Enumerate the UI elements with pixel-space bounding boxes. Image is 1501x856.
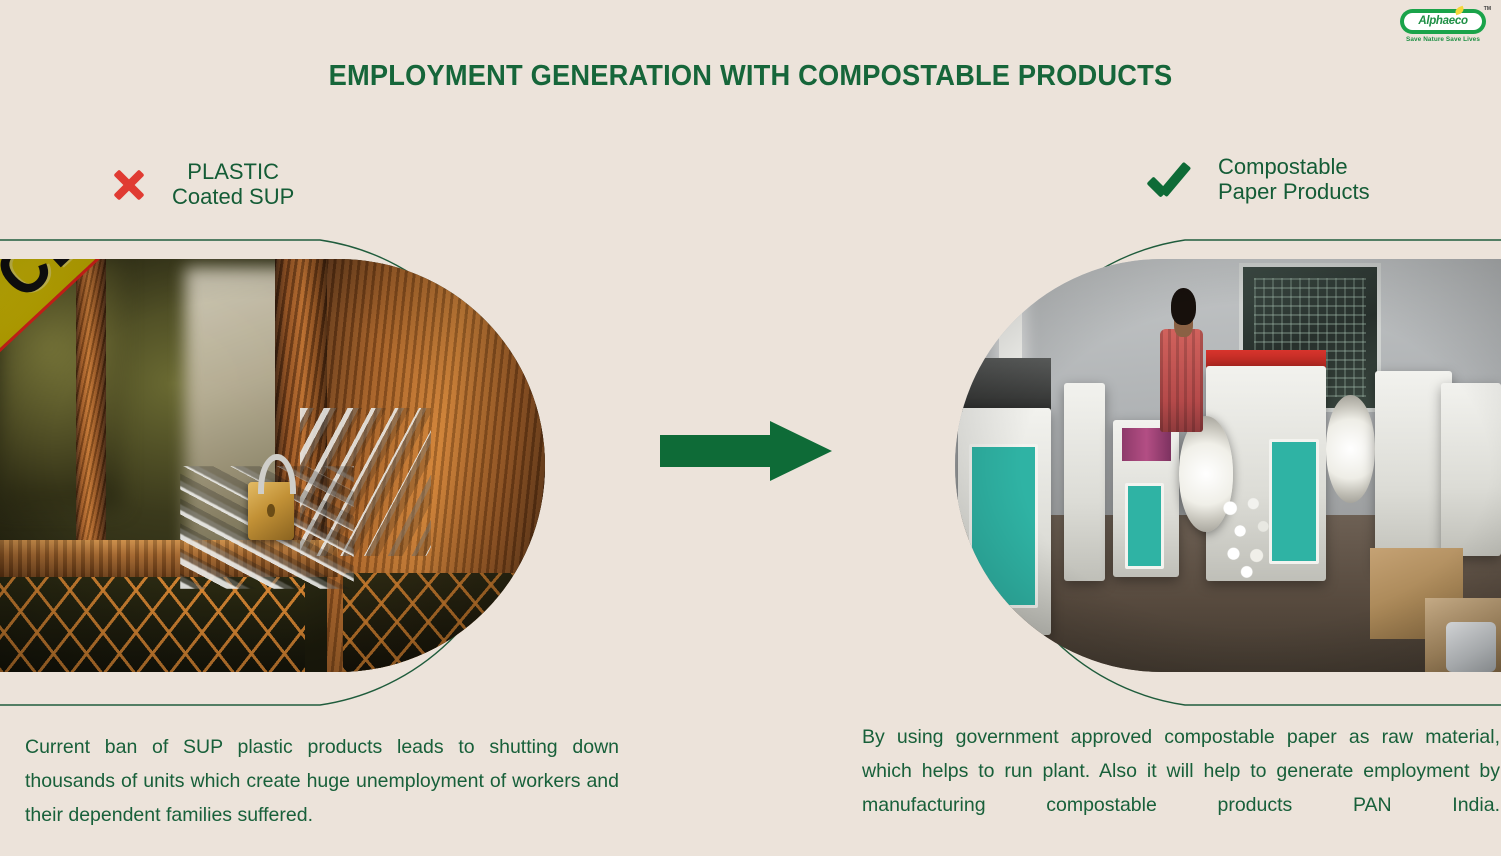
gate-scene: CLOSED (0, 259, 545, 672)
red-cross-icon (108, 164, 150, 206)
logo-tagline: Save Nature Save Lives (1400, 36, 1486, 43)
photo-compostable-factory (955, 259, 1501, 672)
slide-canvas: Alphaeco TM Save Nature Save Lives EMPLO… (0, 0, 1501, 856)
gate-mesh-left (0, 577, 305, 672)
column-header-compostable: Compostable Paper Products (1148, 155, 1370, 204)
logo-badge: Alphaeco TM (1400, 9, 1486, 34)
padlock-icon (248, 482, 294, 540)
right-photo-vignette (955, 259, 1501, 672)
transition-arrow-icon (660, 421, 832, 481)
trademark-mark: TM (1484, 6, 1491, 12)
green-check-icon (1148, 158, 1196, 202)
factory-scene (955, 259, 1501, 672)
caption-compostable: By using government approved compostable… (862, 721, 1500, 823)
column-label-compostable: Compostable Paper Products (1218, 155, 1370, 204)
gate-mesh-right (343, 573, 545, 672)
gate-post-left (76, 259, 106, 556)
logo-inner-pill: Alphaeco (1404, 13, 1482, 30)
logo-wordmark: Alphaeco (1418, 16, 1467, 28)
logo-word-alpha: Alpha (1418, 15, 1448, 27)
column-label-plastic: PLASTIC Coated SUP (172, 160, 294, 209)
column-header-plastic: PLASTIC Coated SUP (108, 160, 294, 209)
page-title: EMPLOYMENT GENERATION WITH COMPOSTABLE P… (45, 60, 1456, 93)
logo-word-eco: eco (1449, 15, 1468, 27)
brand-logo[interactable]: Alphaeco TM Save Nature Save Lives (1400, 9, 1495, 49)
caption-plastic: Current ban of SUP plastic products lead… (25, 731, 619, 833)
photo-closed-factory: CLOSED (0, 259, 545, 672)
